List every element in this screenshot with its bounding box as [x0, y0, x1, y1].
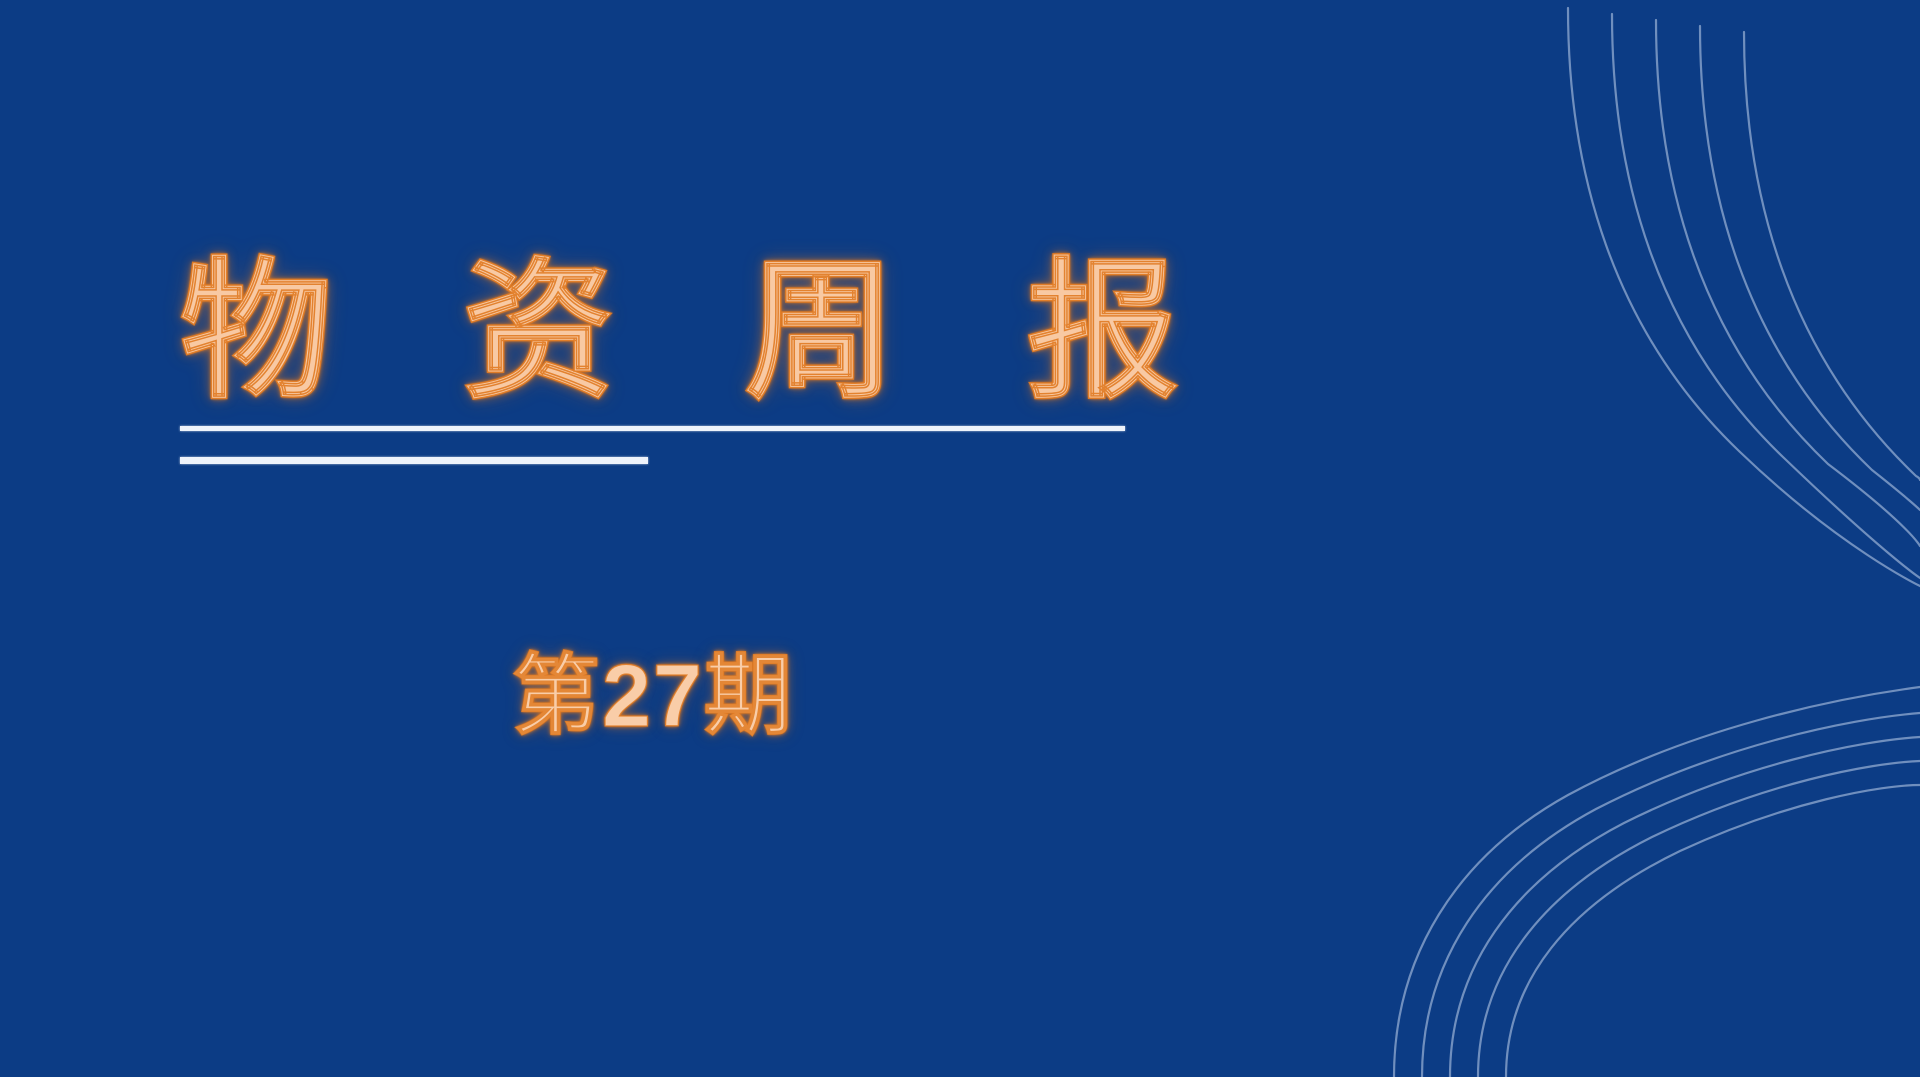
title-underlines: [180, 426, 1380, 470]
title-underline-short: [180, 457, 648, 464]
wave-line: [1506, 785, 1920, 1077]
wave-line: [1700, 26, 1920, 510]
page-title: 物 资 周 报: [180, 256, 1380, 408]
wave-line: [1744, 32, 1920, 480]
wave-lines-bottom-right-icon: [1360, 657, 1920, 1077]
title-slide: 物 资 周 报 第27期: [0, 0, 1920, 1077]
wave-line: [1450, 737, 1920, 1077]
wave-line: [1656, 20, 1920, 546]
title-block: 物 资 周 报: [180, 256, 1380, 470]
issue-number-label: 第27期: [512, 645, 794, 746]
wave-line: [1394, 687, 1920, 1077]
wave-line: [1422, 713, 1920, 1077]
wave-line: [1612, 14, 1920, 578]
title-underline-long: [180, 426, 1125, 431]
wave-line: [1478, 761, 1920, 1077]
wave-line: [1568, 8, 1920, 586]
